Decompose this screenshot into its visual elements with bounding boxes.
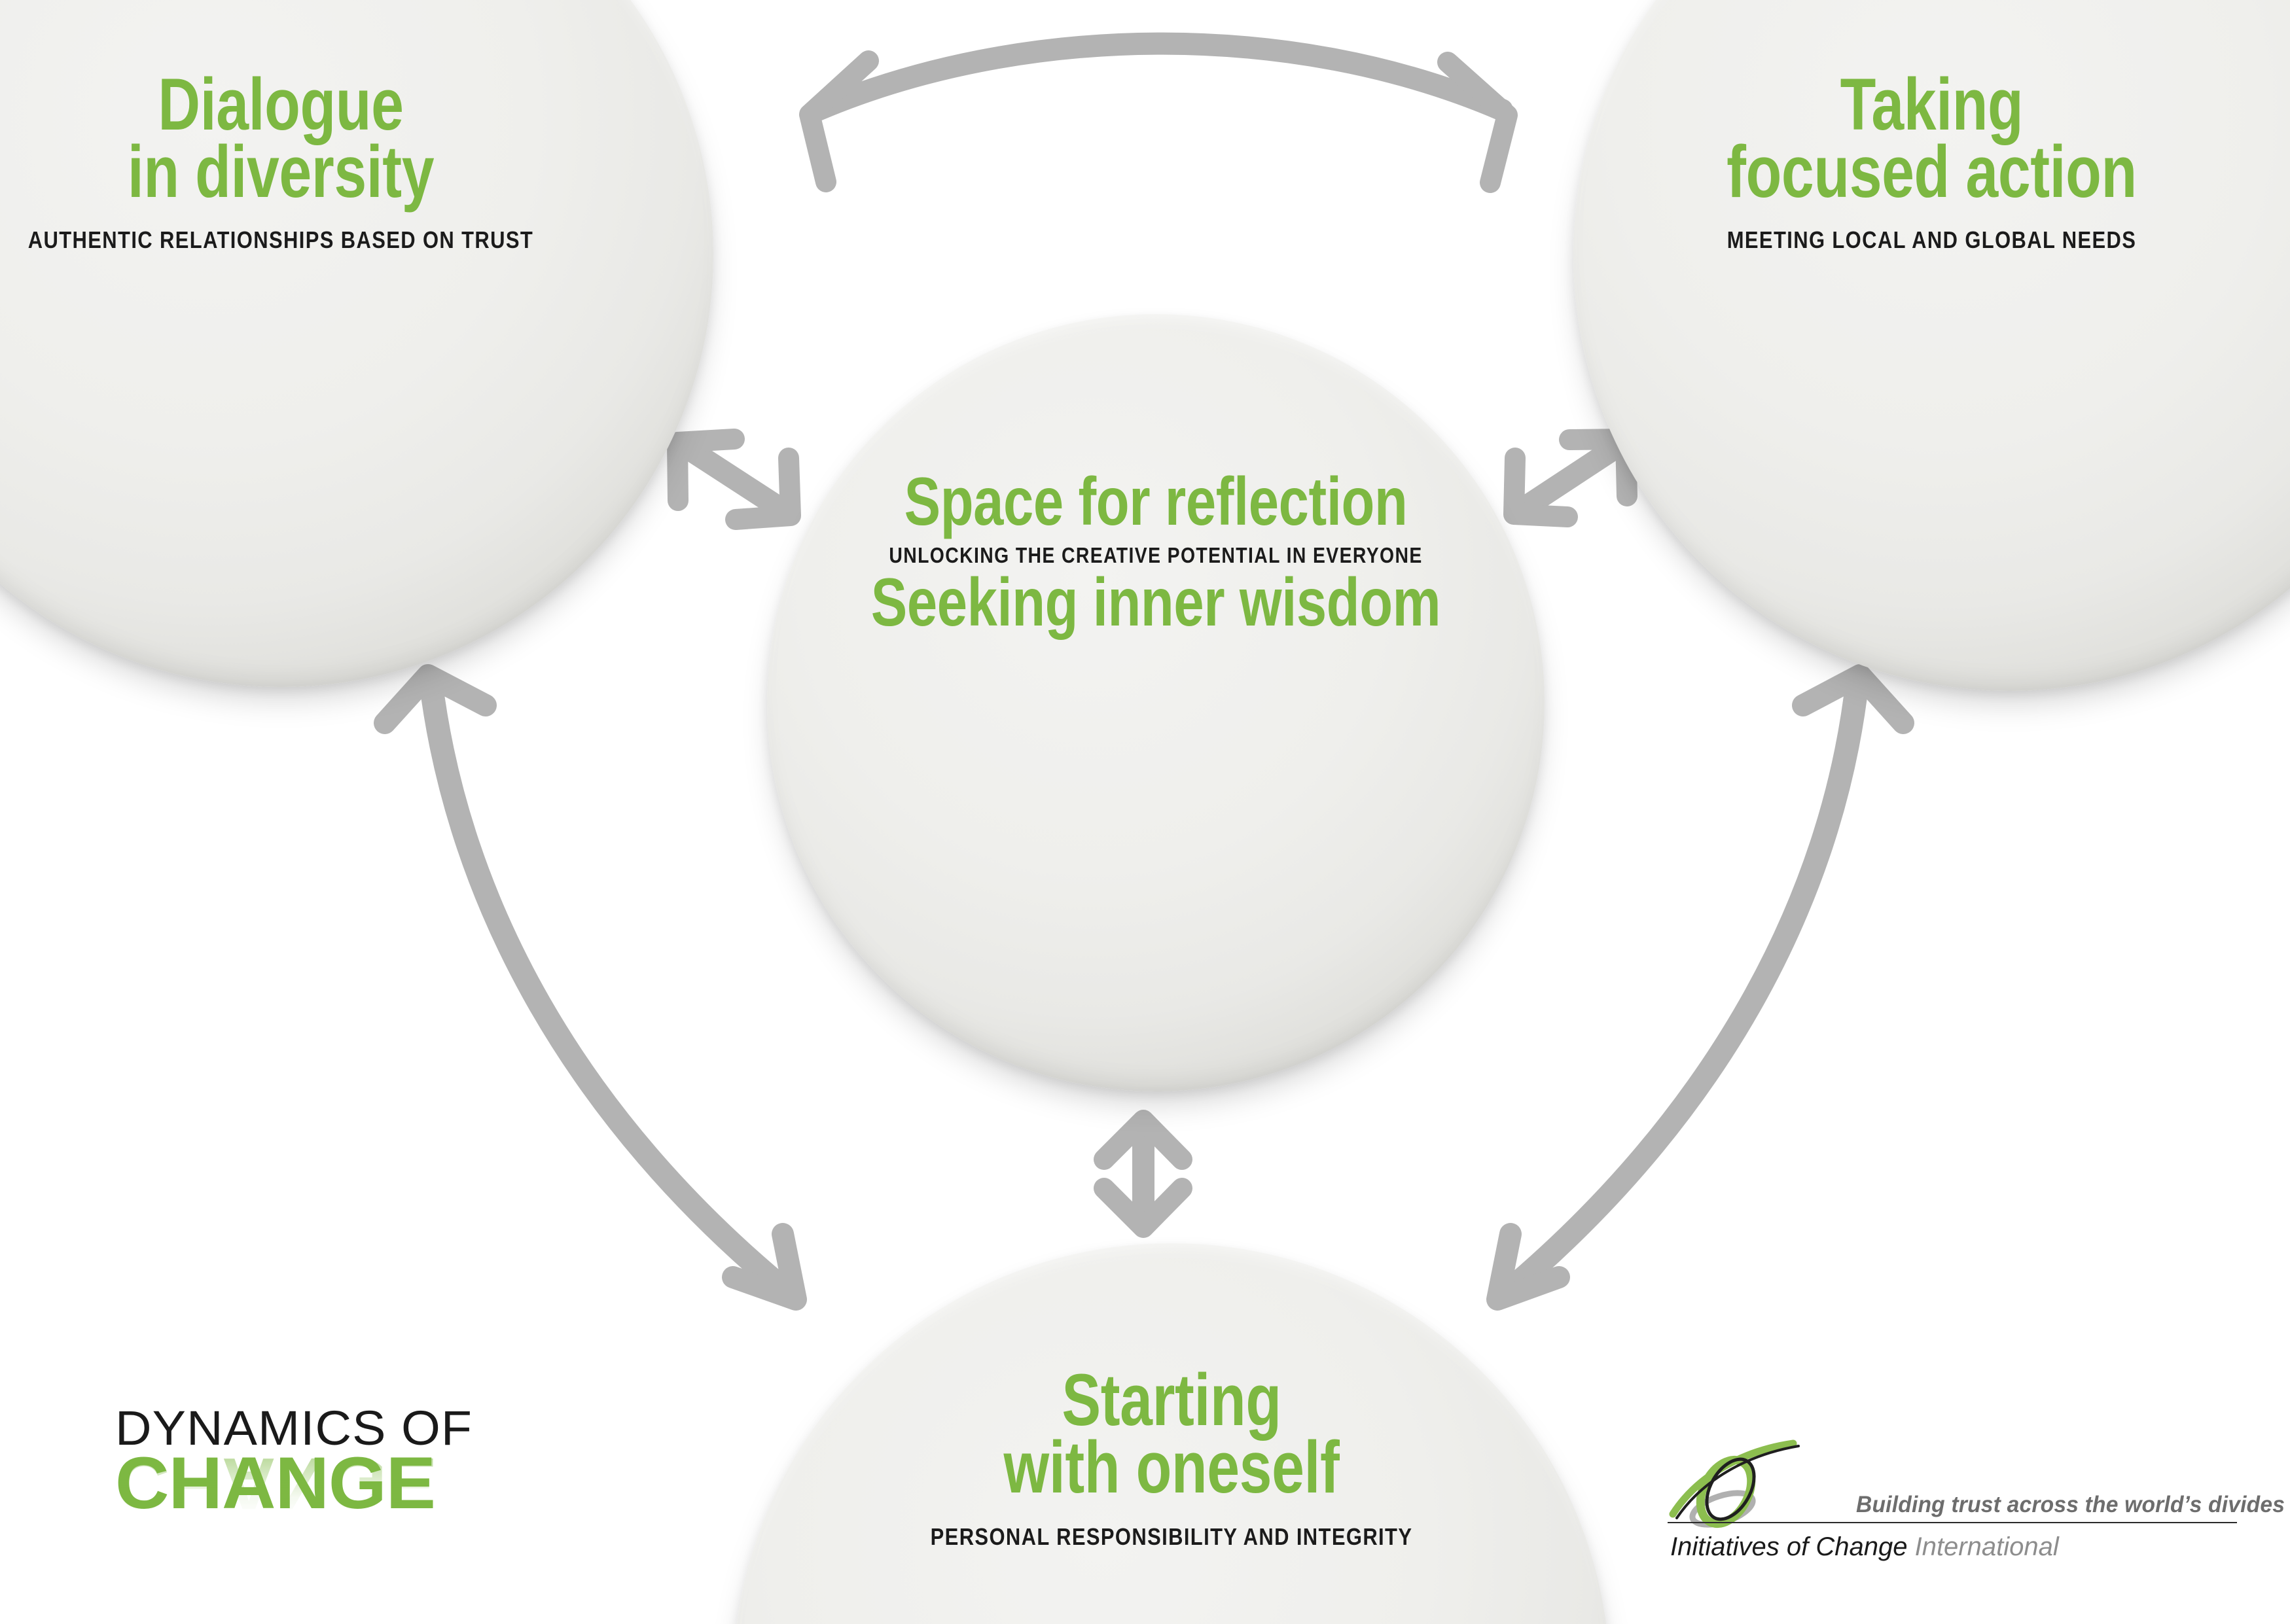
iofc-divider — [1668, 1522, 2237, 1523]
arrow-oneself-to-action — [1497, 675, 1903, 1299]
bubble-oneself-heading-line2: with oneself — [842, 1434, 1501, 1501]
swoosh-icon — [1662, 1434, 1846, 1532]
bubble-dialogue-heading-line2: in diversity — [0, 138, 606, 205]
bubble-action-heading-line2: focused action — [1666, 138, 2198, 205]
bubble-dialogue-in-diversity[interactable]: Dialogue in diversity AUTHENTIC RELATION… — [0, 0, 713, 687]
doc-logo-reflection: CHANGE — [115, 1449, 543, 1518]
bubble-action-heading-line1: Taking — [1666, 71, 2198, 138]
arrow-dialogue-to-action — [810, 44, 1507, 183]
bubble-dialogue-subtitle: AUTHENTIC RELATIONSHIPS BASED ON TRUST — [0, 226, 630, 254]
bubble-reflection-heading-line2: Seeking inner wisdom — [866, 572, 1446, 635]
bubble-oneself-content: Starting with oneself PERSONAL RESPONSIB… — [733, 1366, 1610, 1551]
arrow-reflection-to-oneself — [1104, 1120, 1182, 1227]
bubble-action-subtitle: MEETING LOCAL AND GLOBAL NEEDS — [1646, 226, 2217, 254]
bubble-action-content: Taking focused action MEETING LOCAL AND … — [1573, 71, 2290, 254]
bubble-dialogue-heading-line1: Dialogue — [0, 71, 606, 138]
bubble-space-for-reflection[interactable]: Space for reflection UNLOCKING THE CREAT… — [767, 314, 1545, 1091]
bubble-oneself-heading-line1: Starting — [842, 1366, 1501, 1434]
bubble-dialogue-content: Dialogue in diversity AUTHENTIC RELATION… — [0, 71, 713, 254]
bubble-reflection-content: Space for reflection UNLOCKING THE CREAT… — [767, 471, 1545, 634]
iofc-name: Initiatives of Change International — [1670, 1532, 2059, 1562]
arrow-dialogue-to-oneself — [385, 675, 796, 1299]
iofc-tagline: Building trust across the world’s divide… — [1856, 1492, 2285, 1518]
bubble-oneself-subtitle: PERSONAL RESPONSIBILITY AND INTEGRITY — [817, 1523, 1526, 1551]
iofc-name-suffix: International — [1915, 1532, 2059, 1561]
bubble-starting-with-oneself[interactable]: Starting with oneself PERSONAL RESPONSIB… — [733, 1243, 1610, 1624]
iofc-name-main: Initiatives of Change — [1670, 1532, 1907, 1561]
poster-canvas: .ar{ fill:none; stroke:#b3b3b3; stroke-l… — [0, 0, 2290, 1624]
bubble-reflection-heading-line1: Space for reflection — [866, 471, 1446, 534]
bubble-taking-focused-action[interactable]: Taking focused action MEETING LOCAL AND … — [1573, 0, 2290, 691]
dynamics-of-change-logo[interactable]: DYNAMICS OF CHANGE CHANGE — [115, 1404, 534, 1588]
